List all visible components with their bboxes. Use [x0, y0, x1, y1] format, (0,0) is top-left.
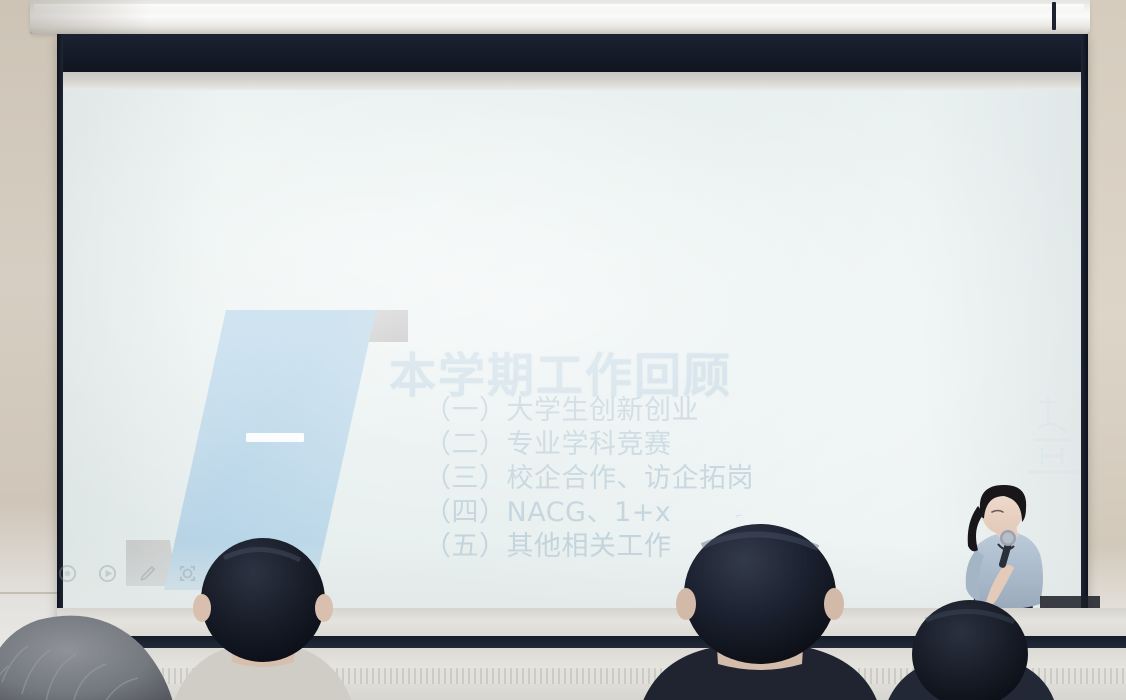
list-item-number: （一）: [424, 394, 507, 428]
audience-head-front-left: [168, 538, 358, 700]
presentation-slide: 本学期工作回顾 （一）大学生创新创业 （二）专业学科竞赛 （三）校企合作、访企拓…: [63, 90, 1081, 612]
pen-icon[interactable]: [138, 564, 157, 583]
roller-shadow: [30, 0, 150, 34]
audience-hood-left: [0, 586, 190, 700]
cursor-artifact: ⌐: [736, 511, 745, 522]
list-item-text: 大学生创新创业: [507, 395, 700, 426]
wall-right: [1084, 0, 1126, 700]
list-item: （三）校企合作、访企拓岗: [424, 462, 754, 496]
play-circle-icon[interactable]: [98, 564, 117, 583]
roller-highlight: [34, 4, 1084, 13]
screen-top-band: [57, 34, 1088, 72]
list-item: （一）大学生创新创业: [424, 394, 754, 428]
classroom-scene: 本学期工作回顾 （一）大学生创新创业 （二）专业学科竞赛 （三）校企合作、访企拓…: [0, 0, 1126, 700]
screen-frame-edge-right: [1081, 34, 1088, 650]
screen-top-lip: [63, 72, 1081, 90]
record-circle-icon[interactable]: [58, 564, 77, 583]
list-item-number: （四）: [424, 496, 507, 530]
list-item: （二）专业学科竞赛: [424, 428, 754, 462]
audience-head-front-center: [640, 524, 880, 700]
slide-watermark: [1018, 388, 1081, 478]
list-item-text: 校企合作、访企拓岗: [507, 463, 755, 494]
list-item-number: （二）: [424, 428, 507, 462]
audience-head-front-right: [886, 596, 1056, 700]
list-item-text: 专业学科竞赛: [507, 429, 672, 460]
list-item-number: （三）: [424, 462, 507, 496]
roller-bracket: [1052, 2, 1056, 30]
list-item-number: （五）: [424, 530, 507, 564]
